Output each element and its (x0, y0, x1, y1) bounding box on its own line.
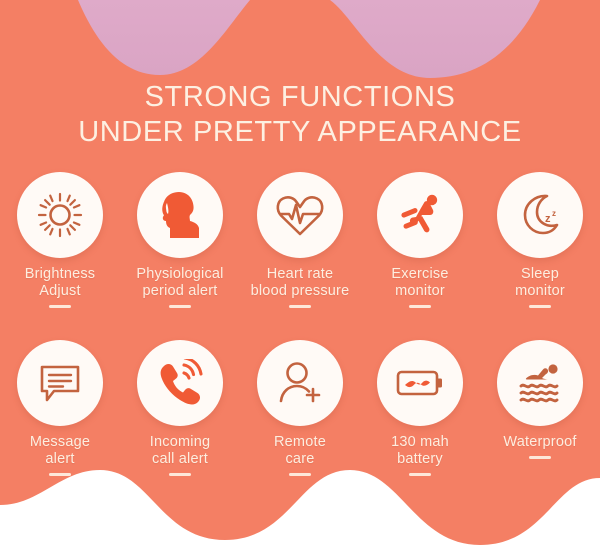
feature-item-incoming-call-alert[interactable]: Incoming call alert (120, 340, 240, 476)
woman-head-icon (156, 190, 204, 240)
heading-line-2: UNDER PRETTY APPEARANCE (0, 115, 600, 150)
feature-label: 130 mah battery (391, 434, 449, 468)
icon-circle (377, 340, 463, 426)
label-underline-dash (169, 473, 191, 476)
feature-label: Heart rate blood pressure (251, 266, 350, 300)
label-underline-dash (289, 473, 311, 476)
label-underline-dash (169, 305, 191, 308)
icon-circle (137, 340, 223, 426)
icon-circle (497, 340, 583, 426)
label-underline-dash (289, 305, 311, 308)
icon-circle (257, 172, 343, 258)
moon-zzz-icon: z z (516, 191, 564, 239)
runner-icon (395, 192, 445, 238)
ringing-phone-icon (155, 359, 205, 407)
label-underline-dash (49, 473, 71, 476)
feature-item-physiological-period-alert[interactable]: Physiological period alert (120, 172, 240, 308)
svg-text:z: z (552, 209, 556, 218)
heading-line-1: STRONG FUNCTIONS (0, 80, 600, 115)
feature-item-heart-rate-blood-pressure[interactable]: Heart rate blood pressure (240, 172, 360, 308)
feature-label: Physiological period alert (136, 266, 223, 300)
icon-circle (377, 172, 463, 258)
poster-heading: STRONG FUNCTIONS UNDER PRETTY APPEARANCE (0, 80, 600, 151)
feature-item-waterproof[interactable]: Waterproof (480, 340, 600, 476)
feature-item-message-alert[interactable]: Message alert (0, 340, 120, 476)
speech-bubble-icon (36, 361, 84, 405)
feature-label: Remote care (274, 434, 326, 468)
feature-item-remote-care[interactable]: Remote care (240, 340, 360, 476)
icon-circle (17, 172, 103, 258)
icon-circle (257, 340, 343, 426)
feature-label: Brightness Adjust (25, 266, 96, 300)
label-underline-dash (49, 305, 71, 308)
feature-row-1: Brightness Adjust Physiological period a… (0, 172, 600, 308)
icon-circle (137, 172, 223, 258)
feature-label: Incoming call alert (150, 434, 210, 468)
heart-pulse-icon (275, 192, 325, 238)
feature-item-exercise-monitor[interactable]: Exercise monitor (360, 172, 480, 308)
label-underline-dash (409, 473, 431, 476)
feature-label: Message alert (30, 434, 90, 468)
swimmer-icon (515, 362, 565, 404)
feature-item-sleep-monitor[interactable]: z z Sleep monitor (480, 172, 600, 308)
label-underline-dash (529, 456, 551, 459)
icon-circle (17, 340, 103, 426)
feature-label: Exercise monitor (391, 266, 448, 300)
feature-label: Sleep monitor (515, 266, 565, 300)
svg-text:z: z (545, 213, 551, 225)
product-feature-poster: STRONG FUNCTIONS UNDER PRETTY APPEARANCE (0, 0, 600, 557)
feature-row-2: Message alert Incoming call alert (0, 340, 600, 476)
person-plus-icon (276, 360, 324, 406)
sun-icon (36, 191, 84, 239)
icon-circle: z z (497, 172, 583, 258)
label-underline-dash (409, 305, 431, 308)
feature-item-brightness-adjust[interactable]: Brightness Adjust (0, 172, 120, 308)
feature-label: Waterproof (503, 434, 576, 451)
feature-item-battery[interactable]: 130 mah battery (360, 340, 480, 476)
label-underline-dash (529, 305, 551, 308)
battery-bolt-icon (395, 365, 445, 401)
